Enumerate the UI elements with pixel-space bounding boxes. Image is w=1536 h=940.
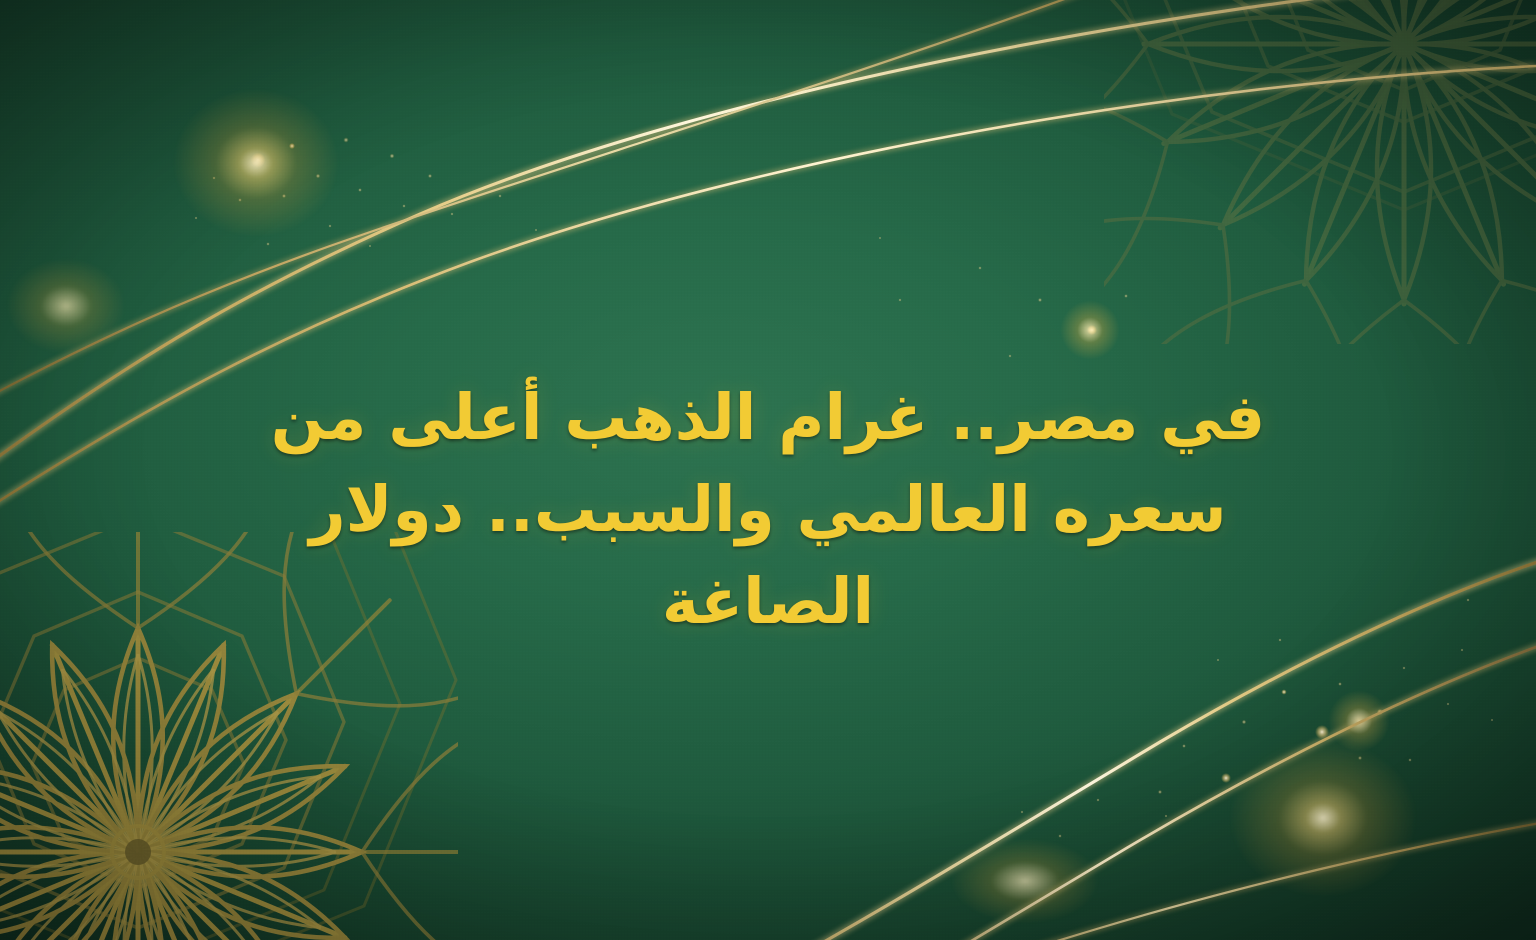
glow-bottom-right-small (1328, 690, 1390, 752)
glow-top-left (172, 88, 340, 238)
page-title: في مصر.. غرام الذهب أعلى من سعره العالمي… (268, 372, 1268, 648)
news-banner: في مصر.. غرام الذهب أعلى من سعره العالمي… (0, 0, 1536, 940)
glow-bottom-right (1228, 738, 1418, 898)
mandala-lattice-top-right-icon (1104, 0, 1536, 344)
glow-top-left-small (1060, 300, 1120, 360)
headline-container: في مصر.. غرام الذهب أعلى من سعره العالمي… (268, 372, 1268, 648)
glow-left-edge (6, 258, 126, 354)
glow-bottom-edge (950, 838, 1100, 924)
